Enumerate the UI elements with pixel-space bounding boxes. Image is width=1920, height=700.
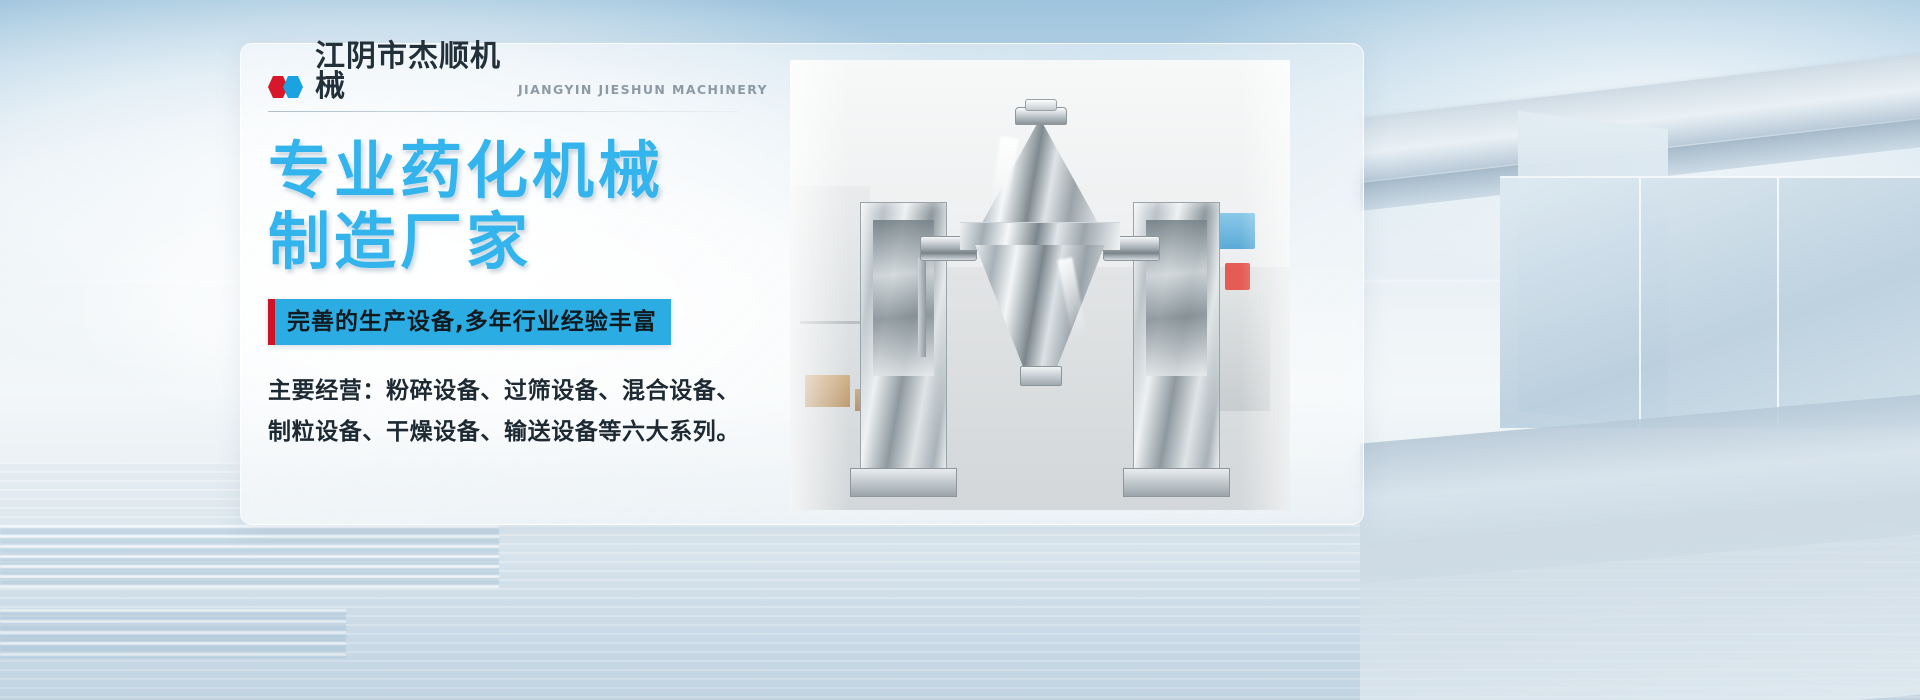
background-architecture xyxy=(1360,0,1920,700)
brand-logo[interactable]: 江阴市杰顺机械 JIANGYIN JIESHUN MACHINERY xyxy=(268,62,768,102)
headline: 专业药化机械 制造厂家 xyxy=(268,136,768,277)
highlight-banner-text: 完善的生产设备,多年行业经验丰富 xyxy=(287,311,657,334)
brand-name-cn: 江阴市杰顺机械 xyxy=(315,42,506,102)
machine-base-left xyxy=(850,468,957,497)
hexagon-blue-icon xyxy=(283,76,303,98)
logo-mark xyxy=(268,76,303,98)
machine-base-right xyxy=(1123,468,1230,497)
brand-divider xyxy=(268,111,738,112)
glass-mullion xyxy=(1777,178,1779,428)
banner-stage: 江阴市杰顺机械 JIANGYIN JIESHUN MACHINERY 专业药化机… xyxy=(0,0,1920,700)
machine-pipe xyxy=(918,258,926,357)
headline-line-1: 专业药化机械 xyxy=(268,136,768,207)
machine-vacuum-port xyxy=(1025,99,1057,112)
text-block: 江阴市杰顺机械 JIANGYIN JIESHUN MACHINERY 专业药化机… xyxy=(268,62,768,512)
business-scope-paragraph: 主要经营：粉碎设备、过筛设备、混合设备、 制粒设备、干燥设备、输送设备等六大系列… xyxy=(268,371,768,452)
business-scope-line-1: 主要经营：粉碎设备、过筛设备、混合设备、 xyxy=(268,371,768,411)
product-photo xyxy=(790,60,1290,510)
business-scope-line-2: 制粒设备、干燥设备、输送设备等六大系列。 xyxy=(268,412,768,452)
water-ripple-lower xyxy=(0,609,346,658)
headline-line-2: 制造厂家 xyxy=(268,207,768,278)
highlight-banner: 完善的生产设备,多年行业经验丰富 xyxy=(268,299,671,345)
glass-mullion xyxy=(1639,178,1641,428)
photo-edge-fade xyxy=(790,60,850,510)
photo-edge-fade xyxy=(1240,60,1290,510)
machine-discharge-valve xyxy=(1020,366,1062,386)
water-ripple-upper xyxy=(0,525,499,588)
brand-name-en: JIANGYIN JIESHUN MACHINERY xyxy=(518,82,768,97)
architecture-glass-panel xyxy=(1500,176,1920,428)
